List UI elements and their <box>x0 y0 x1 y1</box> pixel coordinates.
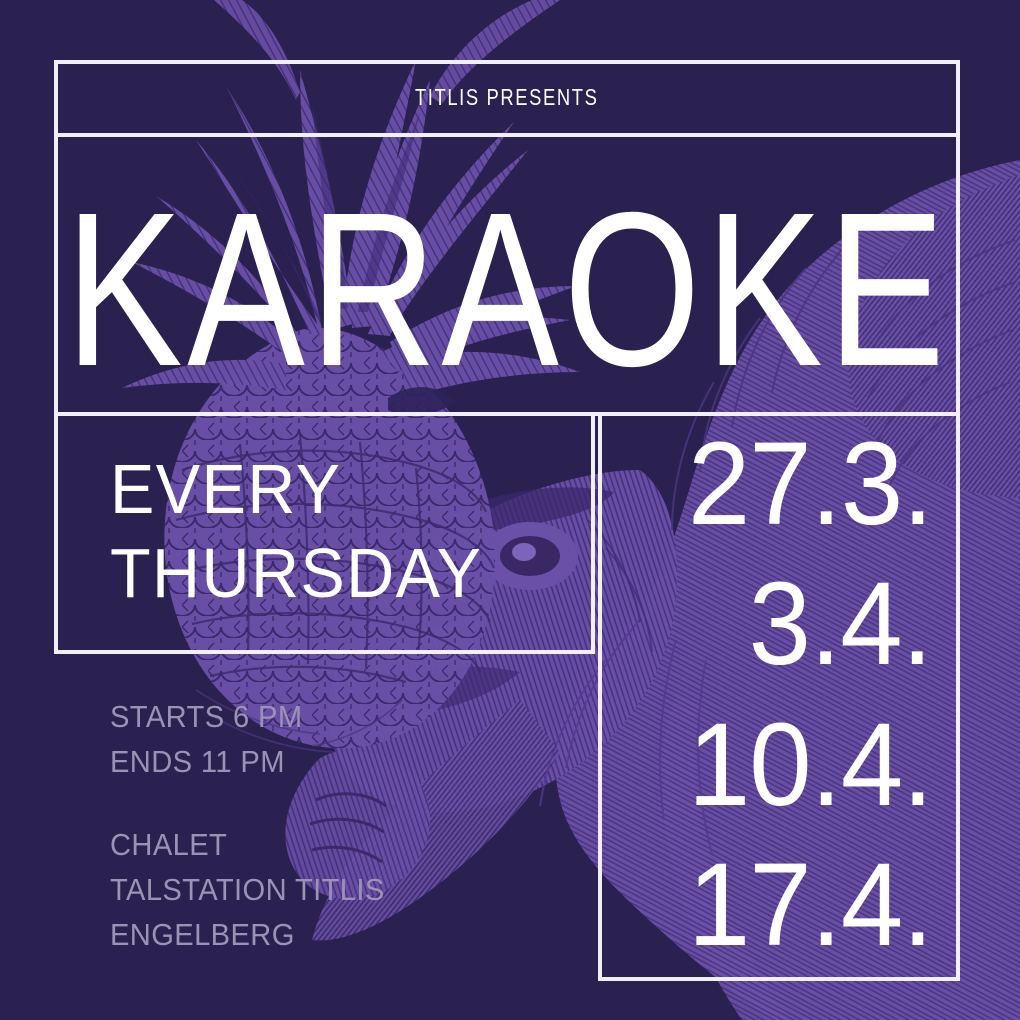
headline-text: KARAOKE <box>65 185 949 396</box>
venue-line-3: ENGELBERG <box>110 913 524 958</box>
date-item: 3.4. <box>749 554 932 694</box>
dates-box-bottom-rule <box>598 977 960 981</box>
weekday-line-1: EVERY <box>110 447 571 531</box>
date-item: 17.4. <box>687 835 932 975</box>
weekday-box-bottom-rule <box>54 650 595 654</box>
start-time-text: STARTS 6 PM <box>110 695 524 740</box>
weekday-block: EVERY THURSDAY <box>54 412 595 650</box>
weekday-line-2: THURSDAY <box>110 531 571 615</box>
event-info-block: STARTS 6 PM ENDS 11 PM CHALET TALSTATION… <box>110 695 550 958</box>
date-item: 27.3. <box>687 414 932 554</box>
dates-block: 27.3. 3.4. 10.4. 17.4. <box>598 412 960 977</box>
kicker-label: TITLIS PRESENTS <box>415 84 599 111</box>
venue-line-1: CHALET <box>110 823 524 868</box>
karaoke-event-poster: TITLIS PRESENTS KARAOKE EVERY THURSDAY 2… <box>0 0 1020 1020</box>
venue-line-2: TALSTATION TITLIS <box>110 868 524 913</box>
end-time-text: ENDS 11 PM <box>110 740 524 785</box>
info-spacer <box>110 785 550 823</box>
date-item: 10.4. <box>687 695 932 835</box>
poster-headline: KARAOKE <box>54 185 960 395</box>
kicker-band: TITLIS PRESENTS <box>54 60 960 135</box>
